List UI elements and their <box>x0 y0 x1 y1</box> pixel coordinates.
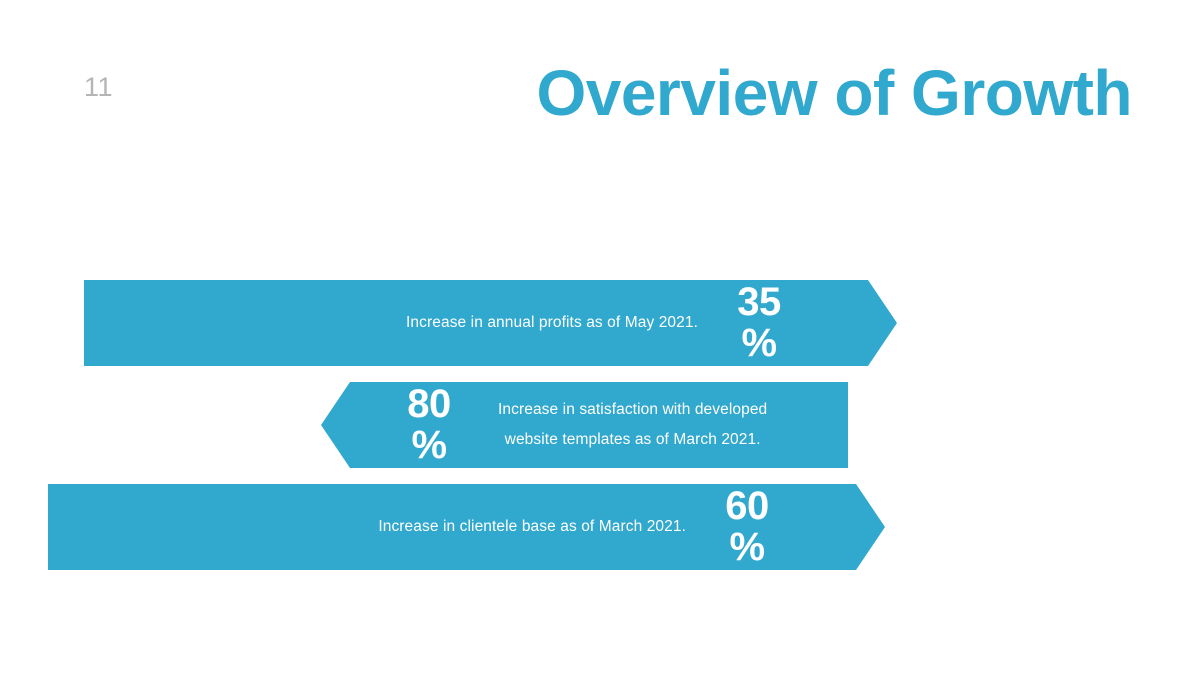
stat-label-profits: Increase in annual profits as of May 202… <box>406 308 698 338</box>
stat-bar-content: Increase in satisfaction with developed … <box>350 384 848 466</box>
stat-percent-clientele: % <box>708 527 786 568</box>
stat-percent-profits: % <box>720 323 798 364</box>
page-number: 11 <box>84 74 113 101</box>
stat-label-satisfaction: Increase in satisfaction with developed … <box>498 395 767 455</box>
stat-label-line-1: Increase in satisfaction with developed <box>498 395 767 425</box>
stat-value-clientele: 60% <box>708 486 786 568</box>
stat-label-line-2: website templates as of March 2021. <box>498 425 767 455</box>
stat-number-profits: 35 <box>737 280 781 324</box>
stat-bar-content: Increase in annual profits as of May 202… <box>84 282 868 364</box>
slide: 11 Overview of Growth Increase in annual… <box>0 0 1200 675</box>
stat-number-clientele: 60 <box>725 484 769 528</box>
stat-label-clientele: Increase in clientele base as of March 2… <box>378 512 686 542</box>
stat-bar-satisfaction: Increase in satisfaction with developed … <box>350 382 848 468</box>
stat-bar-content: Increase in clientele base as of March 2… <box>48 486 856 568</box>
stat-value-profits: 35% <box>720 282 798 364</box>
page-title: Overview of Growth <box>512 58 1132 128</box>
stat-percent-satisfaction: % <box>390 425 468 466</box>
stats-bar-group: Increase in annual profits as of May 202… <box>0 280 1200 570</box>
stat-value-satisfaction: 80% <box>390 384 468 466</box>
stat-bar-profits: Increase in annual profits as of May 202… <box>84 280 868 366</box>
stat-bar-clientele: Increase in clientele base as of March 2… <box>48 484 856 570</box>
stat-number-satisfaction: 80 <box>407 382 451 426</box>
